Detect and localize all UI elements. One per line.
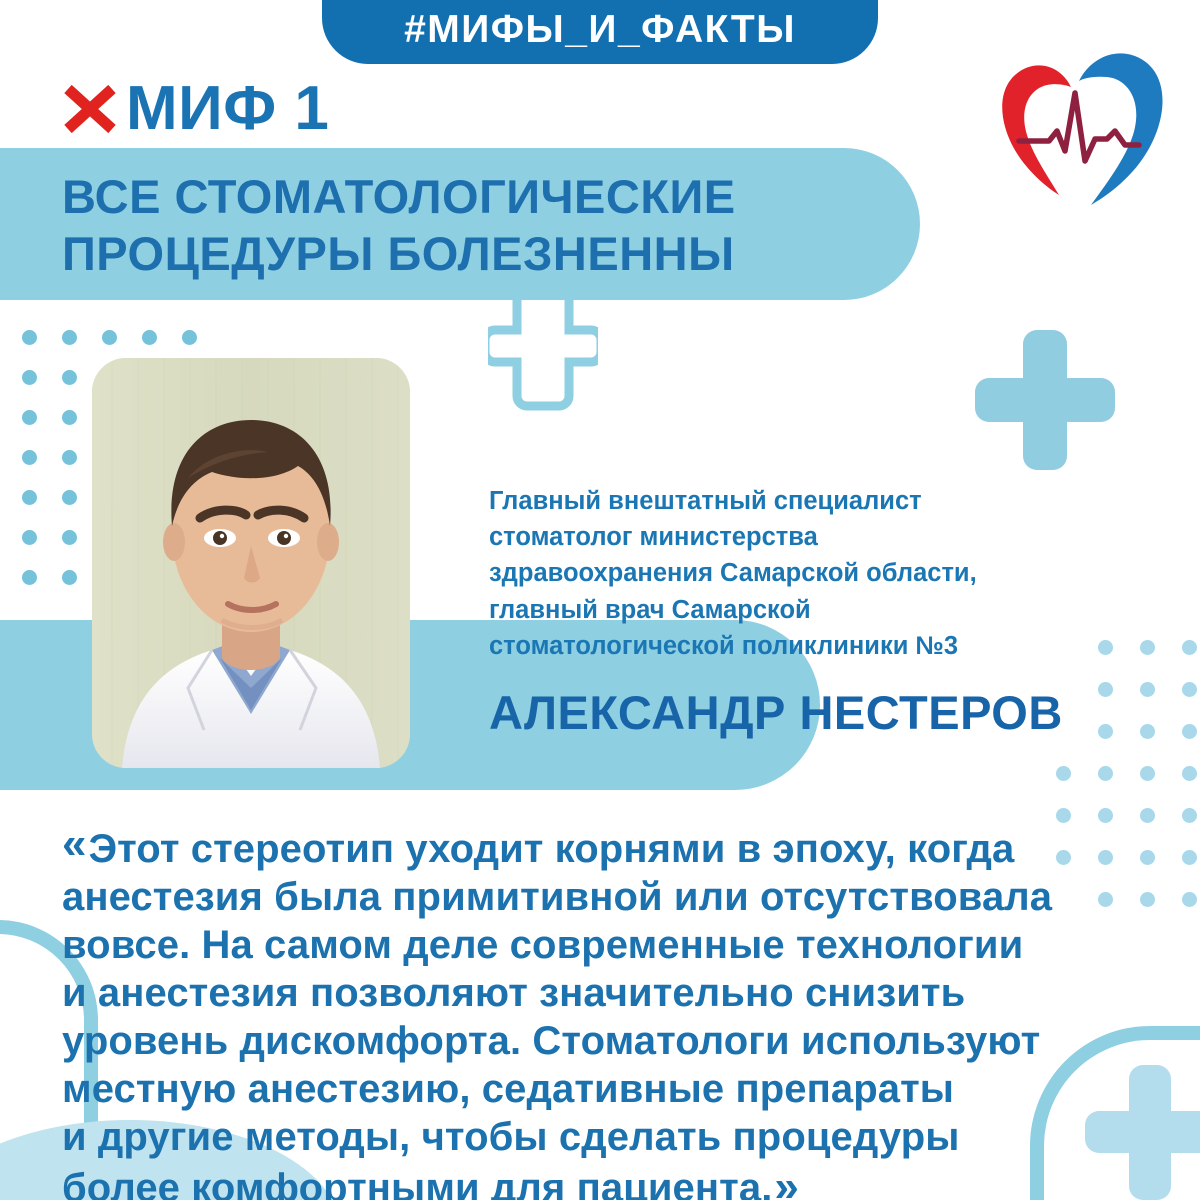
quote-line-8: более комфортными для пациента.» — [62, 1161, 1122, 1200]
quote-line-1: «Этот стереотип уходит корнями в эпоху, … — [62, 818, 1122, 873]
quote-line-7: и другие методы, чтобы сделать процедуры — [62, 1113, 1122, 1161]
doctor-portrait — [92, 358, 410, 768]
page-title: ВСЕ СТОМАТОЛОГИЧЕСКИЕ ПРОЦЕДУРЫ БОЛЕЗНЕН… — [62, 168, 902, 283]
myth-number-row: МИФ 1 — [62, 70, 329, 148]
quote-open-mark: « — [62, 819, 87, 868]
x-mark-icon — [62, 81, 118, 137]
expert-name: АЛЕКСАНДР НЕСТЕРОВ — [489, 685, 1063, 740]
quote-text-8: более комфортными для пациента. — [62, 1166, 772, 1200]
expert-credentials: Главный внештатный специалист стоматолог… — [489, 483, 1109, 664]
quote-line-6: местную анестезию, седативные препараты — [62, 1065, 1122, 1113]
credentials-line-2: стоматолог министерства — [489, 519, 1109, 555]
quote-line-5: уровень дискомфорта. Стоматологи использ… — [62, 1017, 1122, 1065]
headline-line-2: ПРОЦЕДУРЫ БОЛЕЗНЕННЫ — [62, 225, 902, 282]
quote-line-2: анестезия была примитивной или отсутство… — [62, 873, 1122, 921]
quote-text-1: Этот стереотип уходит корнями в эпоху, к… — [89, 827, 1015, 871]
credentials-line-4: главный врач Самарской — [489, 592, 1109, 628]
quote-line-3: вовсе. На самом деле современные техноло… — [62, 921, 1122, 969]
heart-ecg-logo — [975, 35, 1175, 210]
quote-block: «Этот стереотип уходит корнями в эпоху, … — [62, 818, 1122, 1200]
credentials-line-1: Главный внештатный специалист — [489, 483, 1109, 519]
myth-number-label: МИФ 1 — [126, 78, 329, 140]
quote-line-4: и анестезия позволяют значительно снизит… — [62, 969, 1122, 1017]
credentials-line-5: стоматологической поликлиники №3 — [489, 628, 1109, 664]
medical-cross-outline-icon — [488, 300, 598, 435]
infographic-poster: #МИФЫ_И_ФАКТЫ МИФ 1 ВСЕ СТОМАТОЛОГИЧЕСКИ… — [0, 0, 1200, 1200]
headline-line-1: ВСЕ СТОМАТОЛОГИЧЕСКИЕ — [62, 168, 902, 225]
hashtag-text: #МИФЫ_И_ФАКТЫ — [404, 8, 796, 52]
credentials-line-3: здравоохранения Самарской области, — [489, 555, 1109, 591]
hashtag-banner: #МИФЫ_И_ФАКТЫ — [322, 0, 878, 64]
quote-close-mark: » — [774, 1162, 799, 1200]
medical-cross-icon — [975, 330, 1115, 470]
